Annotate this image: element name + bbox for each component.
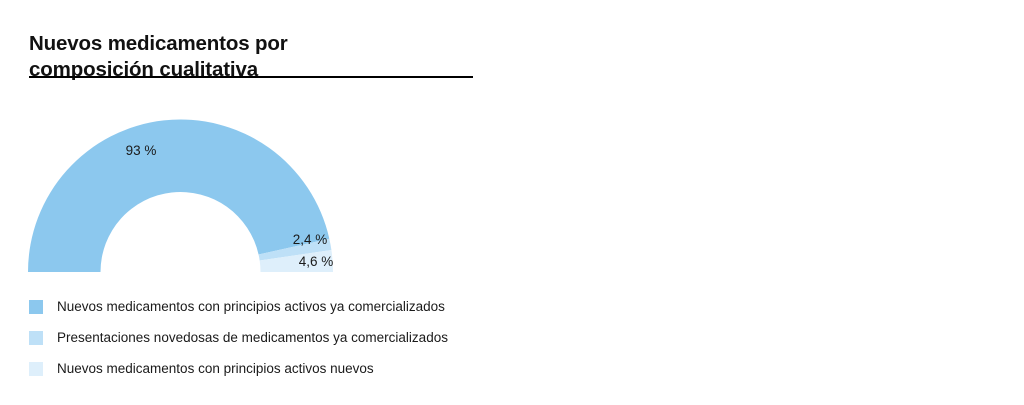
- legend-swatch-icon: [29, 362, 43, 376]
- title-underline-left: [29, 76, 473, 78]
- legend-item[interactable]: Nuevos medicamentos con principios activ…: [29, 291, 448, 322]
- half-donut-svg-left: 93 % 2,4 % 4,6 %: [28, 104, 333, 276]
- legend-item-label: Nuevos medicamentos con principios activ…: [57, 362, 374, 376]
- legend-swatch-icon: [29, 300, 43, 314]
- slice-value-label-1: 93 %: [126, 143, 157, 158]
- slice-value-label-2: 2,4 %: [293, 232, 328, 247]
- legend-item-label: Presentaciones novedosas de medicamentos…: [57, 331, 448, 345]
- legend-swatch-icon: [29, 331, 43, 345]
- chart-panel-cuantitativa: Nuevos medicamentos por composición cuan…: [512, 0, 1024, 405]
- legend-item[interactable]: Presentaciones novedosas de medicamentos…: [29, 322, 448, 353]
- infographic-page: Nuevos medicamentos por composición cual…: [0, 0, 1024, 405]
- legend-item[interactable]: Nuevos medicamentos con principios activ…: [29, 353, 448, 384]
- half-donut-chart-left: 93 % 2,4 % 4,6 %: [28, 104, 333, 276]
- chart-panel-cualitativa: Nuevos medicamentos por composición cual…: [0, 0, 512, 405]
- slice-value-label-3: 4,6 %: [299, 254, 333, 269]
- legend-item-label: Nuevos medicamentos con principios activ…: [57, 300, 445, 314]
- legend-left: Nuevos medicamentos con principios activ…: [29, 291, 448, 384]
- donut-segments-left: [28, 120, 333, 272]
